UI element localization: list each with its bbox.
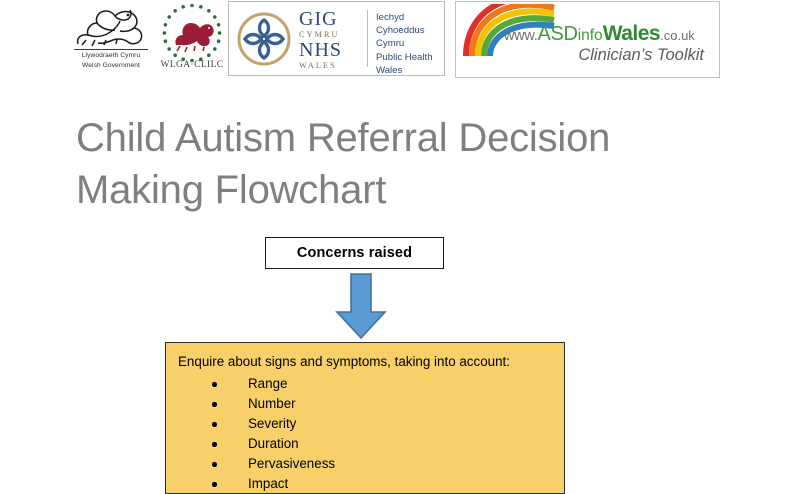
asd-www-text: www. [504, 28, 537, 44]
list-item: Duration [212, 434, 335, 454]
page-title-line1: Child Autism Referral Decision [76, 112, 716, 164]
wlga-clilc-logo: WLGA·CLILC [158, 3, 226, 75]
symptoms-list: Range Number Severity Duration Pervasive… [212, 374, 335, 494]
list-item-label: Pervasiveness [248, 456, 335, 471]
welsh-dragon-icon [68, 4, 154, 48]
list-item: Range [212, 374, 335, 394]
asd-couk-text: .co.uk [660, 28, 695, 43]
nhs-divider [367, 10, 368, 67]
welsh-government-line1: Llywodraeth Cymru [82, 52, 141, 59]
welsh-government-logo: Llywodraeth Cymru Welsh Government [68, 4, 154, 76]
list-item-label: Number [248, 396, 296, 411]
bullet-icon [212, 402, 217, 407]
bullet-icon [212, 422, 217, 427]
bullet-icon [212, 482, 217, 487]
wlga-dragon-stars-icon [162, 3, 222, 63]
bullet-icon [212, 462, 217, 467]
asd-tagline: Clinician’s Toolkit [456, 46, 704, 65]
asd-info-text: info [578, 27, 603, 44]
welsh-government-caption: Llywodraeth Cymru Welsh Government [68, 51, 154, 70]
concerns-raised-label: Concerns raised [297, 245, 412, 261]
bullet-icon [212, 442, 217, 447]
nhs-wales-wordmark: GIG CYMRU NHS WALES [299, 9, 361, 71]
header-logo-strip: Llywodraeth Cymru Welsh Government [0, 0, 800, 86]
symptoms-intro: Enquire about signs and symptoms, taking… [178, 354, 510, 369]
bullet-icon [212, 382, 217, 387]
asdinfowales-logo[interactable]: www.ASDinfoWales.co.uk Clinician’s Toolk… [455, 1, 720, 78]
list-item-label: Range [248, 376, 287, 391]
nhs-desc-line4: Wales [376, 65, 402, 76]
nhs-desc-line2: Cymru [376, 38, 404, 49]
nhs-nhs-text: NHS [299, 40, 361, 60]
nhs-wales-description: Iechyd Cyhoeddus Cymru Public Health Wal… [376, 11, 442, 77]
nhs-wales-text: WALES [299, 60, 361, 71]
list-item-label: Severity [248, 416, 296, 431]
page-title: Child Autism Referral Decision Making Fl… [76, 112, 716, 216]
nhs-gig-text: GIG [299, 9, 361, 29]
list-item-label: Impact [248, 476, 288, 491]
list-item-label: Duration [248, 436, 299, 451]
celtic-knot-icon [235, 10, 293, 68]
list-item: Pervasiveness [212, 454, 335, 474]
asd-wales-text: Wales [603, 22, 660, 45]
page-title-line2: Making Flowchart [76, 164, 716, 216]
asdinfowales-wordmark: www.ASDinfoWales.co.uk [504, 22, 716, 46]
list-item: Impact [212, 474, 335, 494]
asd-asd-text: ASD [537, 23, 577, 45]
list-item: Severity [212, 414, 335, 434]
welsh-government-rule [74, 49, 148, 50]
nhs-desc-line3: Public Health [376, 52, 433, 63]
symptoms-box: Enquire about signs and symptoms, taking… [165, 342, 565, 494]
down-arrow [329, 272, 393, 340]
wlga-clilc-label: WLGA·CLILC [158, 60, 226, 70]
nhs-desc-line1: Iechyd Cyhoeddus [376, 12, 425, 36]
nhs-wales-logo: GIG CYMRU NHS WALES Iechyd Cyhoeddus Cym… [228, 1, 445, 76]
list-item: Number [212, 394, 335, 414]
concerns-raised-box: Concerns raised [265, 237, 444, 269]
welsh-government-line2: Welsh Government [82, 62, 140, 69]
